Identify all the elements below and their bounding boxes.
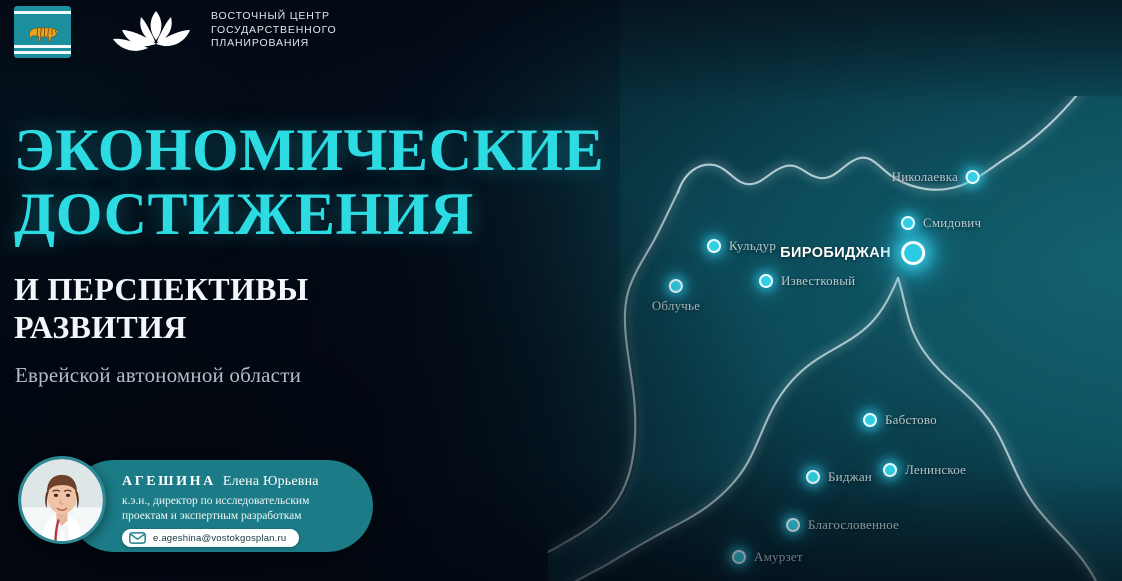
- subtitle-line-2: РАЗВИТИЯ: [14, 308, 534, 346]
- flag-stripe: [14, 45, 71, 48]
- subtitle-line-1: И ПЕРСПЕКТИВЫ: [14, 270, 534, 308]
- tiger-icon: [25, 20, 61, 44]
- lotus-logo-icon: [108, 8, 204, 58]
- page-title: ЭКОНОМИЧЕСКИЕ ДОСТИЖЕНИЯ: [14, 118, 654, 246]
- speaker-given-name: Елена Юрьевна: [223, 474, 319, 489]
- org-line-3: ПЛАНИРОВАНИЯ: [211, 37, 337, 51]
- speaker-role-line-2: проектам и экспертным разработкам: [122, 509, 361, 524]
- presentation-slide: БИРОБИДЖАН Николаевка Смидович Кульдур И…: [0, 0, 1122, 581]
- envelope-icon: [129, 532, 146, 544]
- flag-stripe: [14, 11, 71, 14]
- title-line-2: ДОСТИЖЕНИЯ: [14, 182, 654, 246]
- region-subtitle: Еврейской автономной области: [15, 363, 301, 388]
- speaker-card: АГЕШИНАЕлена Юрьевна к.э.н., директор по…: [68, 460, 373, 552]
- speaker-portrait-avatar: [18, 456, 106, 544]
- speaker-surname: АГЕШИНА: [122, 474, 216, 489]
- speaker-name: АГЕШИНАЕлена Юрьевна: [122, 473, 361, 491]
- org-line-1: ВОСТОЧНЫЙ ЦЕНТР: [211, 10, 337, 24]
- speaker-role-line-1: к.э.н., директор по исследовательским: [122, 494, 361, 509]
- title-line-1: ЭКОНОМИЧЕСКИЕ: [14, 118, 654, 182]
- flag-stripe: [14, 51, 71, 54]
- speaker-email-badge[interactable]: e.ageshina@vostokgosplan.ru: [122, 529, 299, 547]
- flag-jewish-autonomous-oblast-icon: [14, 6, 71, 58]
- organization-name: ВОСТОЧНЫЙ ЦЕНТР ГОСУДАРСТВЕННОГО ПЛАНИРО…: [211, 10, 337, 51]
- org-line-2: ГОСУДАРСТВЕННОГО: [211, 24, 337, 38]
- page-subtitle: И ПЕРСПЕКТИВЫ РАЗВИТИЯ: [14, 270, 534, 346]
- portrait-illustration: [21, 459, 103, 541]
- speaker-email-text: e.ageshina@vostokgosplan.ru: [153, 533, 286, 544]
- speaker-role: к.э.н., директор по исследовательским пр…: [122, 494, 361, 523]
